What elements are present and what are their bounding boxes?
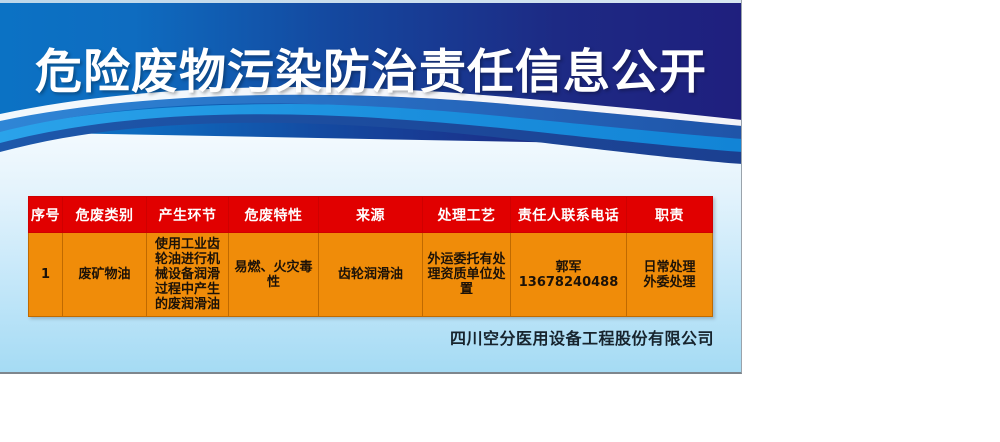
column-header-property: 危废特性 (229, 197, 319, 233)
table-row: 1 废矿物油 使用工业齿轮油进行机械设备润滑过程中产生的废润滑油 易燃、火灾毒性… (29, 233, 713, 317)
cell-treatment: 外运委托有处理资质单位处置 (423, 233, 511, 317)
cell-hazard-property: 易燃、火灾毒性 (229, 233, 319, 317)
column-header-category: 危废类别 (63, 197, 147, 233)
company-name: 四川空分医用设备工程股份有限公司 (0, 328, 714, 350)
hazardous-waste-table: 序号 危废类别 产生环节 危废特性 来源 处理工艺 责任人联系电话 职责 1 废… (28, 196, 713, 317)
banner-top-edge-line (0, 0, 742, 3)
column-header-duty: 职责 (627, 197, 713, 233)
page-title: 危险废物污染防治责任信息公开 (0, 44, 742, 102)
cell-seq: 1 (29, 233, 63, 317)
cell-category: 废矿物油 (63, 233, 147, 317)
hazardous-waste-table-container: 序号 危废类别 产生环节 危废特性 来源 处理工艺 责任人联系电话 职责 1 废… (28, 196, 712, 317)
cell-duty: 日常处理外委处理 (627, 233, 713, 317)
column-header-seq: 序号 (29, 197, 63, 233)
column-header-treatment: 处理工艺 (423, 197, 511, 233)
column-header-source: 来源 (319, 197, 423, 233)
poster-header-banner: 危险废物污染防治责任信息公开 (0, 0, 742, 170)
column-header-phone: 责任人联系电话 (511, 197, 627, 233)
cell-generation-link: 使用工业齿轮油进行机械设备润滑过程中产生的废润滑油 (147, 233, 229, 317)
table-header-row: 序号 危废类别 产生环节 危废特性 来源 处理工艺 责任人联系电话 职责 (29, 197, 713, 233)
responsible-person-name: 郭军 (514, 260, 623, 275)
cell-responsible-contact: 郭军 13678240488 (511, 233, 627, 317)
cell-source: 齿轮润滑油 (319, 233, 423, 317)
responsible-person-phone: 13678240488 (514, 275, 623, 290)
information-disclosure-poster: 危险废物污染防治责任信息公开 序号 危废类别 产生环节 危废特性 来源 处理工艺… (0, 0, 742, 374)
column-header-link: 产生环节 (147, 197, 229, 233)
